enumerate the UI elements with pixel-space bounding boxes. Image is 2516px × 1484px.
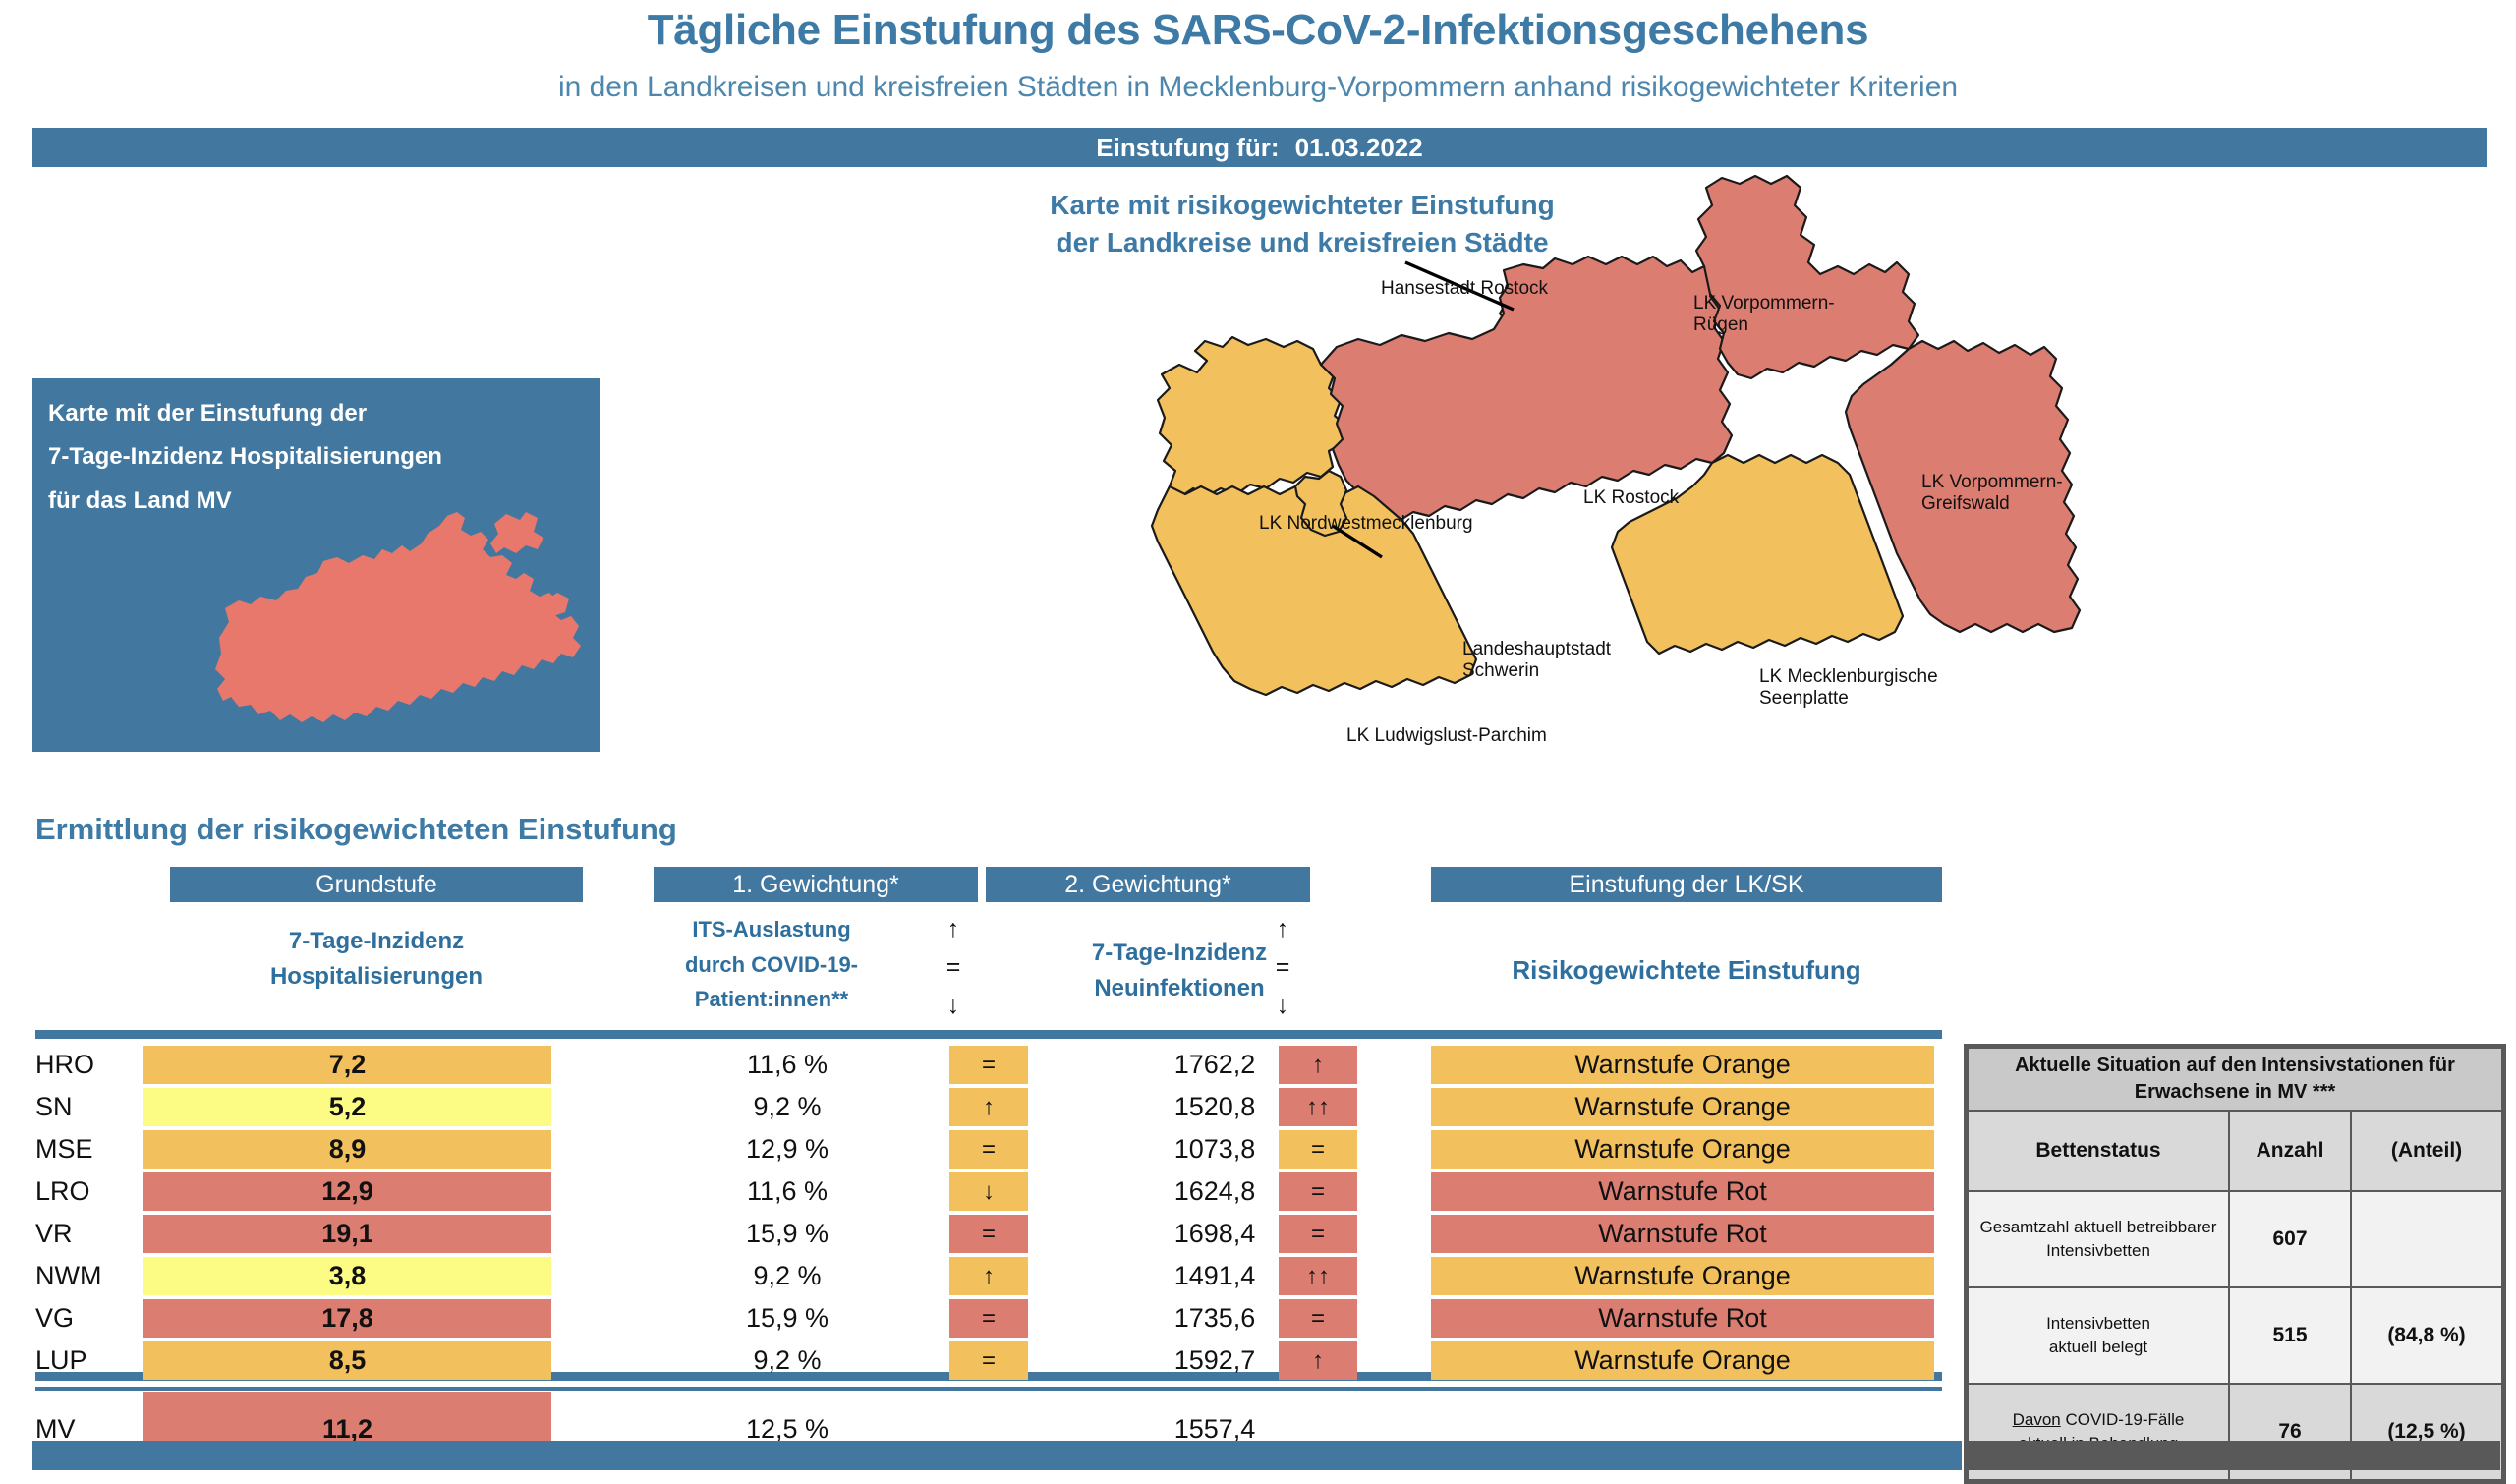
region-nordwestmecklenburg bbox=[1158, 337, 1346, 496]
cell-hospitalization: 19,1 bbox=[143, 1215, 551, 1253]
cell-incidence-trend: ↑ bbox=[1279, 1341, 1357, 1380]
cell-its: 11,6 % bbox=[645, 1172, 930, 1211]
cell-its: 12,9 % bbox=[645, 1130, 930, 1169]
cell-incidence-trend: ↑ bbox=[1279, 1046, 1357, 1084]
cell-incidence-trend: = bbox=[1279, 1172, 1357, 1211]
icu-col-share: (Anteil) bbox=[2351, 1111, 2502, 1191]
table-row: LRO 12,9 11,6 % ↓ 1624,8 = Warnstufe Rot bbox=[35, 1170, 1942, 1213]
icu-row-count: 607 bbox=[2229, 1191, 2351, 1287]
col-header-risikogewichtete-einstufung: Risikogewichtete Einstufung bbox=[1431, 951, 1942, 990]
risk-table: HRO 7,2 11,6 % = 1762,2 ↑ Warnstufe Oran… bbox=[35, 1044, 1942, 1466]
icu-row-label-l2: Intensivbetten bbox=[1974, 1239, 2222, 1263]
cell-its: 15,9 % bbox=[645, 1215, 930, 1253]
cell-hospitalization: 12,9 bbox=[143, 1172, 551, 1211]
region-lk-rostock bbox=[1321, 257, 1732, 522]
cell-warning-level: Warnstufe Rot bbox=[1431, 1172, 1934, 1211]
icu-row-label-rest: COVID-19-Fälle bbox=[2065, 1410, 2184, 1429]
row-code: LRO bbox=[35, 1170, 134, 1213]
hospitalization-map-box: Karte mit der Einstufung der 7-Tage-Inzi… bbox=[32, 378, 600, 752]
cell-incidence-trend: = bbox=[1279, 1215, 1357, 1253]
cell-warning-level: Warnstufe Orange bbox=[1431, 1130, 1934, 1169]
cell-hospitalization: 3,8 bbox=[143, 1257, 551, 1295]
icu-col-count: Anzahl bbox=[2229, 1111, 2351, 1191]
cell-incidence-trend: ↑↑ bbox=[1279, 1257, 1357, 1295]
cell-its: 9,2 % bbox=[645, 1257, 930, 1295]
table-row: VG 17,8 15,9 % = 1735,6 = Warnstufe Rot bbox=[35, 1297, 1942, 1340]
icu-row-label-underlined: Davon bbox=[2013, 1410, 2061, 1429]
icu-header-row: Bettenstatus Anzahl (Anteil) bbox=[1968, 1111, 2502, 1191]
table-row: MSE 8,9 12,9 % = 1073,8 = Warnstufe Oran… bbox=[35, 1128, 1942, 1170]
row-code: HRO bbox=[35, 1044, 134, 1086]
trend-down-icon: ↓ bbox=[914, 987, 993, 1025]
risk-classification-map bbox=[1111, 172, 2349, 811]
icu-row-share bbox=[2351, 1191, 2502, 1287]
bottom-bar bbox=[32, 1441, 1962, 1470]
cell-its-trend: = bbox=[949, 1046, 1028, 1084]
cell-warning-level: Warnstufe Orange bbox=[1431, 1341, 1934, 1380]
col-header-grundstufe-l1: 7-Tage-Inzidenz bbox=[170, 924, 583, 959]
icu-row-label: Intensivbetten aktuell belegt bbox=[1968, 1287, 2229, 1384]
col-header-its-trend-legend: ↑ = ↓ bbox=[914, 910, 993, 1024]
region-lk-vorpommern-ruegen bbox=[1696, 176, 1918, 378]
icu-row-label-l1: Davon COVID-19-Fälle bbox=[1974, 1408, 2222, 1432]
col-header-grundstufe-l2: Hospitalisierungen bbox=[170, 959, 583, 995]
icu-row-label: Gesamtzahl aktuell betreibbarer Intensiv… bbox=[1968, 1191, 2229, 1287]
icu-row-label-l2: aktuell belegt bbox=[1974, 1336, 2222, 1359]
cell-warning-level: Warnstufe Rot bbox=[1431, 1299, 1934, 1338]
col-header-neuinf-trend-legend: ↑ = ↓ bbox=[1243, 910, 1322, 1024]
icu-situation-table: Aktuelle Situation auf den Intensivstati… bbox=[1964, 1044, 2506, 1484]
caption-line-1: Karte mit der Einstufung der bbox=[48, 392, 579, 435]
cell-its-trend: ↑ bbox=[949, 1257, 1028, 1295]
cell-hospitalization: 17,8 bbox=[143, 1299, 551, 1338]
col-chip-gewichtung-2: 2. Gewichtung* bbox=[986, 867, 1310, 902]
trend-equal-icon-2: = bbox=[1243, 948, 1322, 987]
cell-warning-level: Warnstufe Orange bbox=[1431, 1257, 1934, 1295]
table-row: LUP 8,5 9,2 % = 1592,7 ↑ Warnstufe Orang… bbox=[35, 1340, 1942, 1382]
cell-incidence-trend: = bbox=[1279, 1130, 1357, 1169]
infographic-page: Tägliche Einstufung des SARS-CoV-2-Infek… bbox=[0, 0, 2516, 1479]
col-header-its-l3: Patient:innen** bbox=[629, 982, 914, 1017]
col-chip-einstufung: Einstufung der LK/SK bbox=[1431, 867, 1942, 902]
icu-title: Aktuelle Situation auf den Intensivstati… bbox=[1968, 1048, 2502, 1111]
col-header-its-l1: ITS-Auslastung bbox=[629, 912, 914, 947]
cell-its-trend: ↓ bbox=[949, 1172, 1028, 1211]
row-code: SN bbox=[35, 1086, 134, 1128]
cell-its: 9,2 % bbox=[645, 1088, 930, 1126]
cell-its-trend: = bbox=[949, 1299, 1028, 1338]
row-code: LUP bbox=[35, 1340, 134, 1382]
row-code: VR bbox=[35, 1213, 134, 1255]
cell-its-trend: = bbox=[949, 1130, 1028, 1169]
cell-its-trend: ↑ bbox=[949, 1088, 1028, 1126]
trend-down-icon-2: ↓ bbox=[1243, 987, 1322, 1025]
cell-warning-level: Warnstufe Rot bbox=[1431, 1215, 1934, 1253]
cell-incidence-trend: = bbox=[1279, 1299, 1357, 1338]
row-code: NWM bbox=[35, 1255, 134, 1297]
row-code: VG bbox=[35, 1297, 134, 1340]
icu-title-row: Aktuelle Situation auf den Intensivstati… bbox=[1968, 1048, 2502, 1111]
date-banner-value: 01.03.2022 bbox=[1295, 133, 1423, 163]
table-row: SN 5,2 9,2 % ↑ 1520,8 ↑↑ Warnstufe Orang… bbox=[35, 1086, 1942, 1128]
bottom-bar-grey bbox=[1964, 1441, 2500, 1470]
cell-its: 15,9 % bbox=[645, 1299, 930, 1338]
cell-warning-level: Warnstufe Orange bbox=[1431, 1046, 1934, 1084]
cell-hospitalization: 8,9 bbox=[143, 1130, 551, 1169]
col-header-grundstufe: 7-Tage-Inzidenz Hospitalisierungen bbox=[170, 924, 583, 995]
table-row: VR 19,1 15,9 % = 1698,4 = Warnstufe Rot bbox=[35, 1213, 1942, 1255]
cell-its: 9,2 % bbox=[645, 1341, 930, 1380]
icu-row-share: (84,8 %) bbox=[2351, 1287, 2502, 1384]
leader-line-rostock bbox=[1405, 262, 1514, 310]
icu-row-label-l1: Intensivbetten bbox=[1974, 1312, 2222, 1336]
trend-up-icon: ↑ bbox=[914, 910, 993, 948]
cell-warning-level: Warnstufe Orange bbox=[1431, 1088, 1934, 1126]
table-row: HRO 7,2 11,6 % = 1762,2 ↑ Warnstufe Oran… bbox=[35, 1044, 1942, 1086]
caption-line-2: 7-Tage-Inzidenz Hospitalisierungen bbox=[48, 435, 579, 479]
icu-row-label-l1: Gesamtzahl aktuell betreibbarer bbox=[1974, 1216, 2222, 1239]
date-banner: Einstufung für: 01.03.2022 bbox=[32, 128, 2487, 167]
cell-incidence-trend: ↑↑ bbox=[1279, 1088, 1357, 1126]
cell-its-trend: = bbox=[949, 1215, 1028, 1253]
cell-hospitalization: 7,2 bbox=[143, 1046, 551, 1084]
cell-its-trend: = bbox=[949, 1341, 1028, 1380]
section-heading: Ermittlung der risikogewichteten Einstuf… bbox=[35, 812, 677, 847]
col-header-its-l2: durch COVID-19- bbox=[629, 947, 914, 983]
icu-row: Intensivbetten aktuell belegt 515 (84,8 … bbox=[1968, 1287, 2502, 1384]
page-title: Tägliche Einstufung des SARS-CoV-2-Infek… bbox=[0, 6, 2516, 55]
trend-up-icon-2: ↑ bbox=[1243, 910, 1322, 948]
mv-state-map bbox=[200, 506, 593, 742]
col-chip-grundstufe: Grundstufe bbox=[170, 867, 583, 902]
icu-col-status: Bettenstatus bbox=[1968, 1111, 2229, 1191]
col-header-its: ITS-Auslastung durch COVID-19- Patient:i… bbox=[629, 912, 914, 1017]
row-code: MSE bbox=[35, 1128, 134, 1170]
region-lk-mecklenburgische-seenplatte bbox=[1612, 455, 1903, 654]
col-chip-gewichtung-1: 1. Gewichtung* bbox=[654, 867, 978, 902]
page-subtitle: in den Landkreisen und kreisfreien Städt… bbox=[0, 71, 2516, 104]
icu-row-count: 515 bbox=[2229, 1287, 2351, 1384]
icu-row: Gesamtzahl aktuell betreibbarer Intensiv… bbox=[1968, 1191, 2502, 1287]
table-row: NWM 3,8 9,2 % ↑ 1491,4 ↑↑ Warnstufe Oran… bbox=[35, 1255, 1942, 1297]
cell-its: 11,6 % bbox=[645, 1046, 930, 1084]
cell-hospitalization: 5,2 bbox=[143, 1088, 551, 1126]
trend-equal-icon: = bbox=[914, 948, 993, 987]
table-top-rule bbox=[35, 1030, 1942, 1039]
cell-hospitalization: 8,5 bbox=[143, 1341, 551, 1380]
hospitalization-map-caption: Karte mit der Einstufung der 7-Tage-Inzi… bbox=[48, 392, 579, 523]
date-banner-label: Einstufung für: bbox=[1096, 133, 1279, 163]
